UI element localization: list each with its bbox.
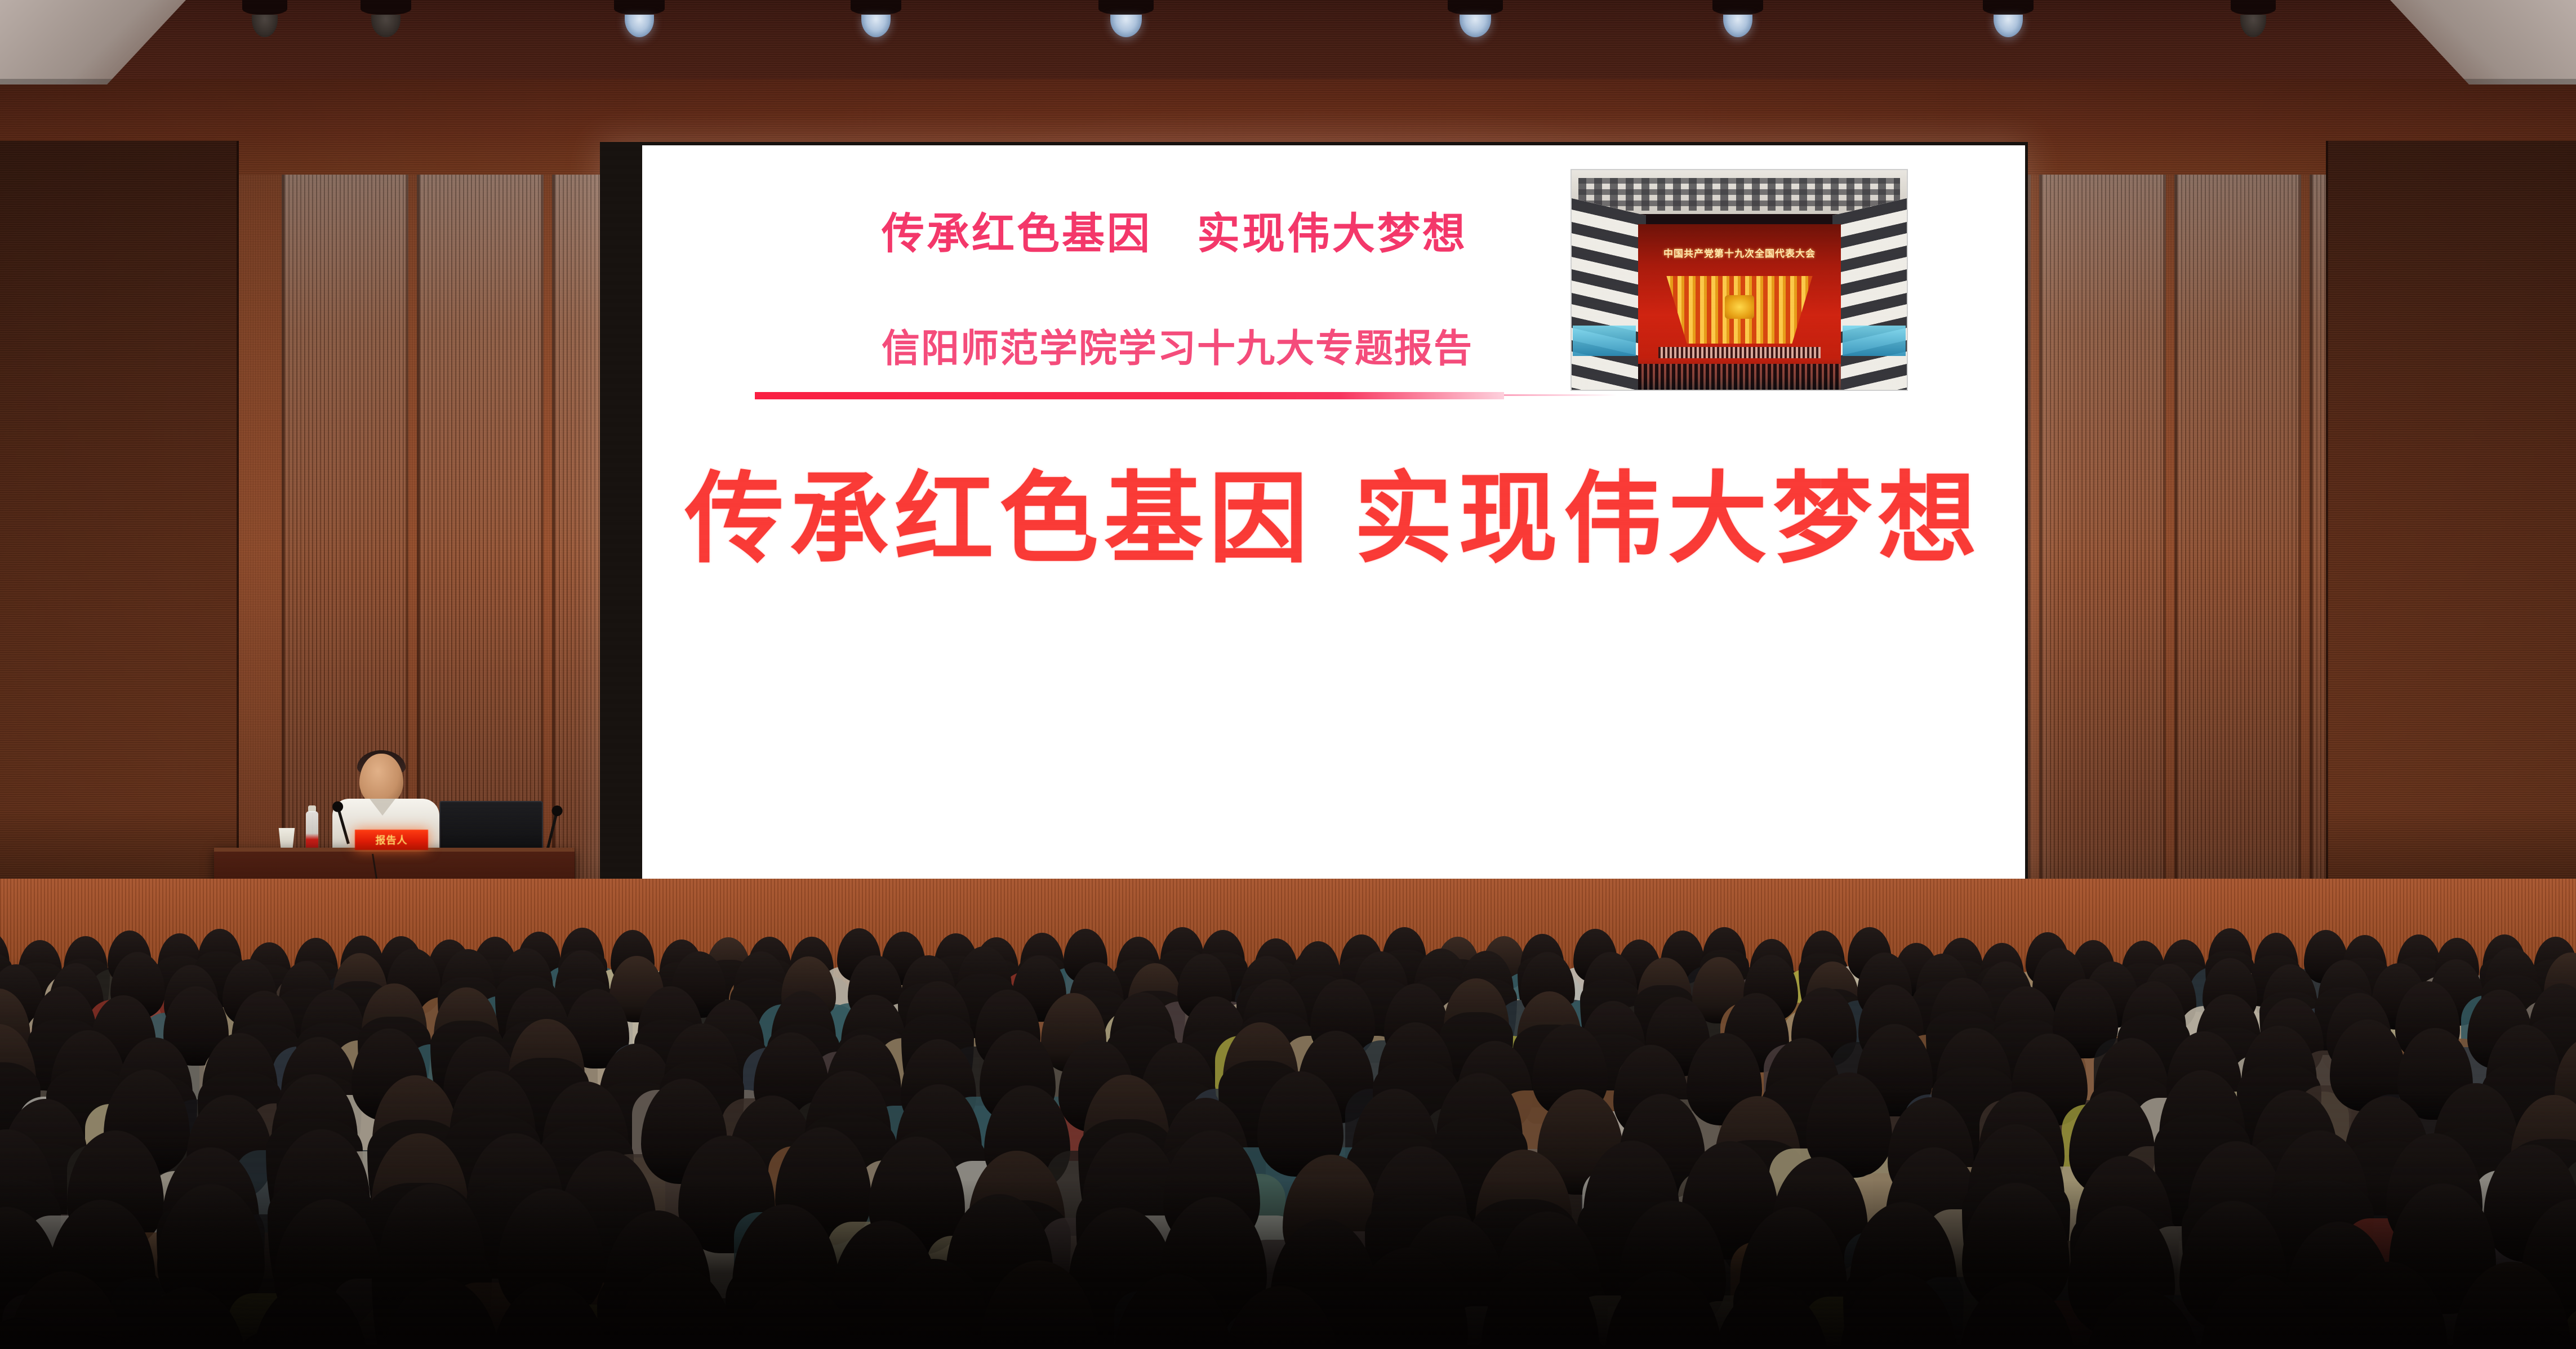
- ceiling-downlight: [2231, 0, 2276, 37]
- photo-side-screen-right: [1843, 326, 1906, 356]
- slide-divider-rule-tail: [1504, 394, 1617, 396]
- ceiling-downlight: [1448, 0, 1503, 37]
- projection-screen[interactable]: 传承红色基因 实现伟大梦想 信阳师范学院学习十九大专题报告 传承红色基因 实现伟…: [642, 145, 2025, 883]
- audience-seating: [0, 879, 2576, 1349]
- ceiling-downlight: [614, 0, 665, 37]
- slide-main-title: 传承红色基因 实现伟大梦想: [642, 438, 2025, 582]
- ceiling-downlight: [242, 0, 287, 37]
- wall-slat-panel: [2039, 169, 2166, 907]
- photo-stage-floor: [1638, 358, 1841, 390]
- photo-congress-stage: 中国共产党第十九次全国代表大会: [1638, 224, 1841, 390]
- slide-divider-rule: [755, 392, 1504, 399]
- speaker-head: [359, 754, 403, 805]
- photo-ceiling: [1572, 170, 1907, 214]
- water-bottle-icon: [306, 811, 318, 852]
- photo-audience: [1638, 364, 1841, 390]
- ceiling-downlight: [1983, 0, 2034, 37]
- photo-coffers-right: [1832, 198, 1907, 391]
- speaker-nameplate: 报告人: [355, 830, 428, 850]
- laptop-icon: [439, 801, 543, 853]
- congress-photo: 中国共产党第十九次全国代表大会: [1570, 169, 1908, 391]
- photo-coffers-left: [1572, 198, 1646, 391]
- party-emblem-icon: [1725, 295, 1754, 319]
- ceiling-downlight: [1098, 0, 1154, 37]
- paper-cup-icon: [277, 828, 296, 851]
- ceiling-downlight: [851, 0, 901, 37]
- slide-subtitle-text: 信阳师范学院学习十九大专题报告: [738, 317, 1617, 373]
- ceiling-downlight: [361, 0, 411, 37]
- photo-side-screen-left: [1573, 326, 1636, 356]
- microphone-icon: [546, 813, 558, 848]
- photo-banner-text: 中国共产党第十九次全国代表大会: [1638, 246, 1841, 260]
- ceiling-downlight: [1712, 0, 1763, 37]
- slide-header-text: 传承红色基因 实现伟大梦想: [752, 199, 1597, 261]
- wall-slat-panel: [2174, 169, 2301, 907]
- right-wall-panel: [2326, 141, 2576, 929]
- photo-ceiling-grid: [1578, 178, 1900, 211]
- lecture-hall-scene: 传承红色基因 实现伟大梦想 信阳师范学院学习十九大专题报告 传承红色基因 实现伟…: [0, 0, 2576, 1349]
